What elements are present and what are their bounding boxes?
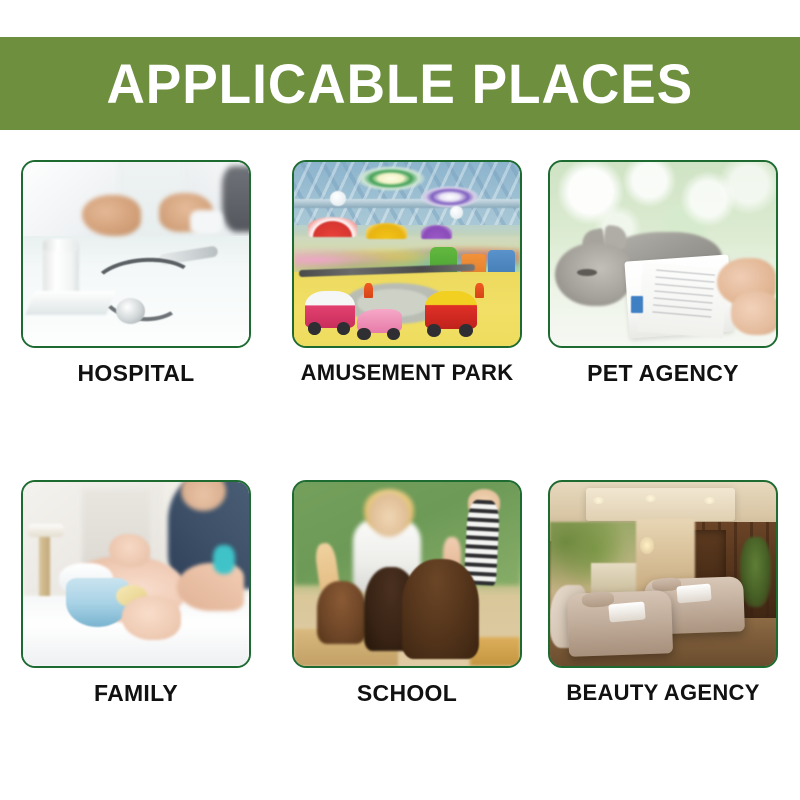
student-head-left-shape — [317, 581, 367, 644]
place-card-pet-agency[interactable]: PET AGENCY — [548, 160, 778, 387]
header-banner: APPLICABLE PLACES — [0, 37, 800, 130]
school-photo-frame — [292, 480, 522, 668]
baby-arm-shape — [177, 563, 245, 611]
page-title: APPLICABLE PLACES — [107, 56, 694, 112]
places-grid: HOSPITAL — [0, 160, 800, 800]
place-card-school[interactable]: SCHOOL — [292, 480, 522, 707]
pink-scooter-wheel-front — [357, 328, 371, 341]
place-label-pet-agency: PET AGENCY — [548, 360, 778, 387]
purple-mushroom-canopy-shape — [421, 225, 453, 240]
stethoscope-chestpiece-shape — [116, 298, 145, 324]
place-label-amusement-park: AMUSEMENT PARK — [292, 360, 522, 386]
yellow-mushroom-canopy-shape — [366, 223, 407, 240]
places-row-bottom: FAMILY — [0, 480, 800, 800]
doctor-hands-shape — [82, 195, 141, 235]
ceiling-coffer-shape — [586, 488, 735, 521]
document-text-lines-shape — [652, 270, 715, 323]
blue-file-tab-shape — [631, 296, 642, 313]
student-head-front-shape — [402, 559, 479, 658]
recessed-light-3-shape — [704, 497, 715, 504]
place-label-family: FAMILY — [21, 680, 251, 707]
place-label-hospital: HOSPITAL — [21, 360, 251, 387]
red-mushroom-canopy-shape — [308, 217, 358, 237]
traffic-cone-right-shape — [475, 283, 484, 298]
folded-towel-back-shape — [676, 584, 711, 603]
hospital-photo-frame — [21, 160, 251, 348]
place-label-school: SCHOOL — [292, 680, 522, 707]
beauty-agency-photo — [550, 482, 776, 666]
amusement-park-photo — [294, 162, 520, 346]
pill-bottle-cap-shape — [43, 239, 79, 252]
pet-agency-photo — [550, 162, 776, 346]
ceiling-beam-shape — [294, 199, 520, 208]
parent-hand-shape — [122, 596, 181, 640]
baby-hand-shape — [109, 534, 150, 567]
patient-suit-shape — [222, 166, 249, 232]
place-card-family[interactable]: FAMILY — [21, 480, 251, 707]
indoor-plant-shape — [740, 537, 772, 607]
red-toy-car-wheel-rear — [459, 324, 473, 337]
traffic-cone-left-shape — [364, 283, 373, 298]
family-photo-frame — [21, 480, 251, 668]
infographic-page: APPLICABLE PLACES — [0, 0, 800, 800]
beauty-agency-photo-frame — [548, 480, 778, 668]
teacher-face-shape — [369, 493, 410, 537]
family-photo — [23, 482, 249, 666]
teal-toy-shape — [213, 545, 236, 574]
shirt-cuff-shape — [190, 210, 222, 234]
pink-toy-car-wheel-front — [308, 322, 322, 335]
place-card-beauty-agency[interactable]: BEAUTY AGENCY — [548, 480, 778, 706]
human-hand-lower-shape — [731, 291, 776, 335]
school-photo — [294, 482, 520, 666]
pet-agency-photo-frame — [548, 160, 778, 348]
red-toy-car-wheel-front — [427, 324, 441, 337]
lamp-shade-shape — [28, 524, 64, 537]
purple-ring-light-shape — [421, 186, 480, 208]
amusement-park-photo-frame — [292, 160, 522, 348]
place-card-amusement-park[interactable]: AMUSEMENT PARK — [292, 160, 522, 386]
places-row-top: HOSPITAL — [0, 160, 800, 480]
wall-sconce-glow-shape — [640, 537, 654, 554]
place-label-beauty-agency: BEAUTY AGENCY — [548, 680, 778, 706]
place-card-hospital[interactable]: HOSPITAL — [21, 160, 251, 387]
hospital-photo — [23, 162, 249, 346]
